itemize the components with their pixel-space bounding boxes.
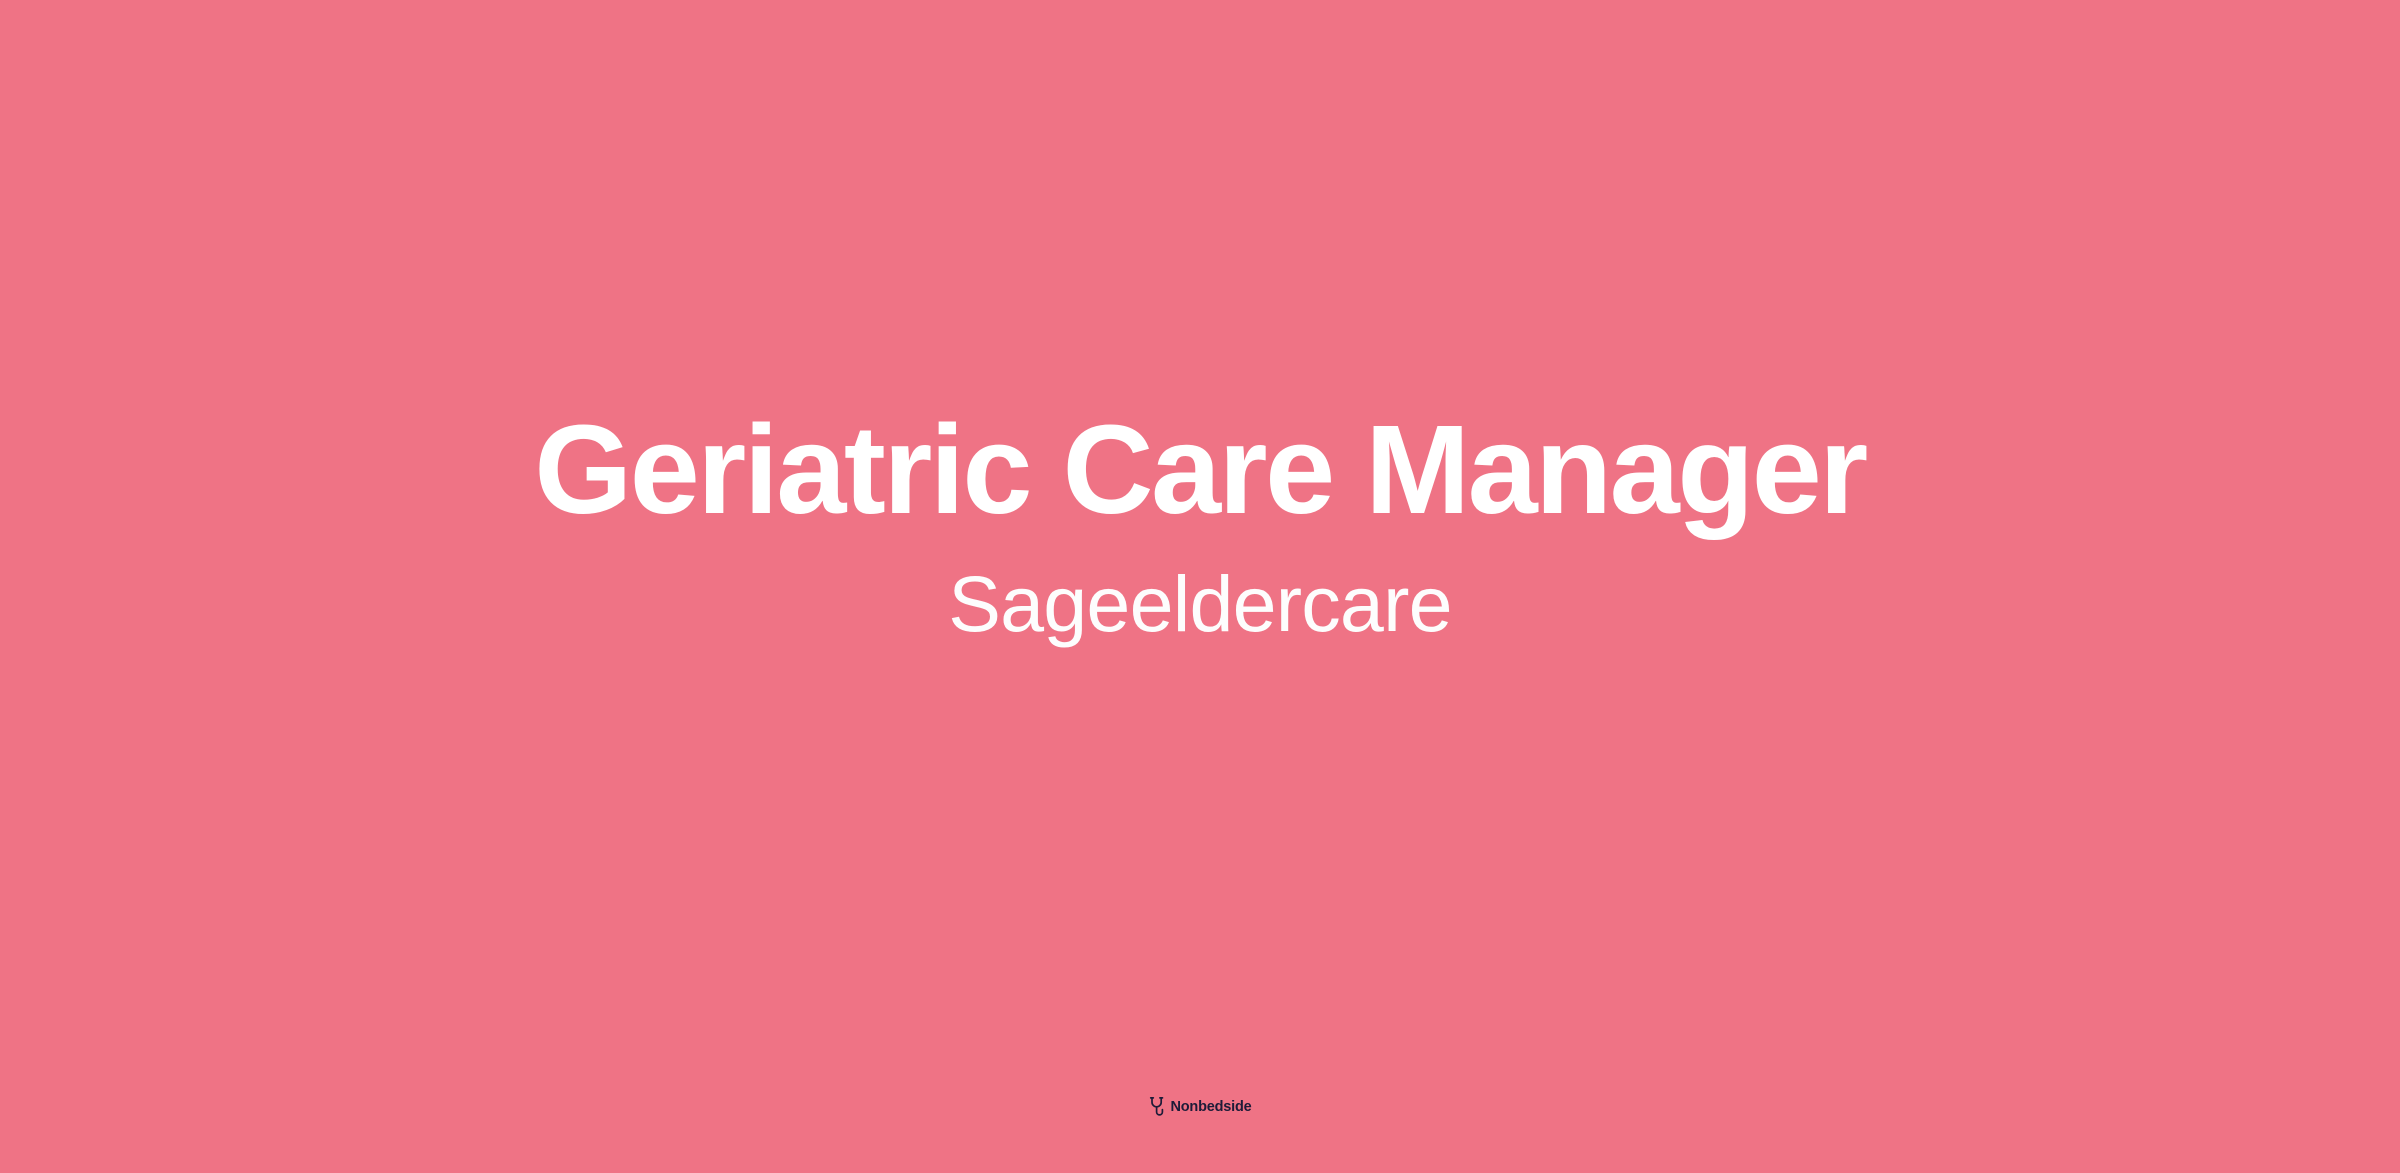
page-subtitle: Sageeldercare: [948, 559, 1451, 650]
brand-name: Nonbedside: [1171, 1100, 1252, 1115]
brand-footer: Nonbedside: [0, 1048, 2400, 1173]
title-slide: Geriatric Care Manager Sageeldercare Non…: [0, 0, 2400, 1173]
stethoscope-icon: [1149, 1096, 1166, 1118]
title-block: Geriatric Care Manager Sageeldercare: [0, 0, 2400, 1113]
page-title: Geriatric Care Manager: [534, 403, 1866, 537]
brand-lockup: Nonbedside: [1149, 1096, 1252, 1118]
